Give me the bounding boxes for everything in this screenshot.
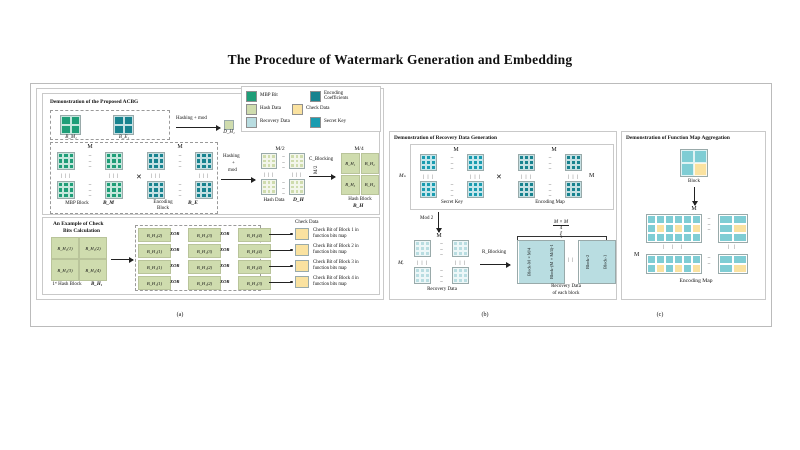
fma-map-tl xyxy=(646,214,702,243)
panel-b-title: Demonstration of Recovery Data Generatio… xyxy=(394,135,497,141)
legend-swatch-mbp-bit xyxy=(246,91,257,102)
recovery-cell-bl xyxy=(414,267,431,284)
block-label-mxm4-minus1: Block-(M×M/4)-1 xyxy=(541,241,564,283)
arrow-c-blocking xyxy=(309,176,335,177)
blocks-group-left: Block-M×M/4 Block-(M×M/4)-1 xyxy=(517,240,565,284)
recovery-hdots-top: ––– xyxy=(434,242,449,259)
mbp-cell-br xyxy=(105,181,123,199)
xor-row-1-b: B_H₁(3) xyxy=(188,228,221,242)
acbg-main-row-group: M ––– | | | | | | xyxy=(50,142,218,214)
hash-block-name-label: Hash Block xyxy=(341,197,379,203)
block-label-2: Block-2 xyxy=(579,241,597,283)
hashdata-vdots-left: | | | xyxy=(261,173,277,178)
xor-row-3-c: B_H₁(4) xyxy=(238,260,271,274)
fma-map-bl xyxy=(646,254,702,274)
secretkey-vdots-right: | | | xyxy=(467,175,484,180)
xor-row-2-b: B_H₁(3) xyxy=(188,244,221,258)
recovery-size-top: M xyxy=(414,233,464,240)
mbp-name-label: MBP Block xyxy=(51,201,103,207)
legend-item-encoding-coefficients: Encoding Coefficients xyxy=(310,91,368,102)
mbp-cell-bl xyxy=(57,181,75,199)
check-data-text-2-line1: Check Bit of Block 2 in xyxy=(313,244,359,249)
encoding-symbol: B_E xyxy=(188,200,198,206)
acbg-section-title: Demonstration of the Proposed ACBG xyxy=(50,99,138,105)
check-data-text-4: Check Bit of Block 4 in function bits ma… xyxy=(313,276,385,288)
check-data-text-3-line1: Check Bit of Block 3 in xyxy=(313,260,359,265)
arrow-r-blocking xyxy=(480,264,510,265)
secretkey-cell-bl xyxy=(420,181,437,198)
enc-cell-tr xyxy=(195,152,213,170)
block-dh1 xyxy=(224,120,234,130)
fma-block-label: Block xyxy=(674,179,714,185)
dot-out-4 xyxy=(290,281,293,284)
panel-c-caption: (c) xyxy=(580,312,740,318)
hash-block-cell-2: B_H₂ xyxy=(361,153,380,174)
enc-cell-tl xyxy=(147,152,165,170)
legend-item-secret-key: Secret Key xyxy=(310,117,350,128)
xor-label-3-2: XOR xyxy=(220,263,229,268)
hashing-label-1: Hashing xyxy=(223,154,240,160)
arrow-top-hashing xyxy=(176,127,220,128)
fma-map-br xyxy=(718,254,748,274)
arrow-example-to-xor xyxy=(111,259,133,260)
hashdata-cell-tr xyxy=(289,153,305,169)
xor-label-3-1: XOR xyxy=(170,263,179,268)
hash-block-cell-1: B_H₁ xyxy=(341,153,360,174)
panel-a-section-example: An Example of Check Bits Calculation B_H… xyxy=(42,217,380,295)
recovery-name-label: Recovery Data xyxy=(408,287,476,293)
secret-key-size-top: M xyxy=(423,147,489,154)
encoding-name-label-2: Block xyxy=(143,206,183,212)
hashdata-hdots-top: ––– xyxy=(279,155,288,172)
example-source-label: 1ˢᵗ Hash Block xyxy=(45,282,89,288)
xor-row-4-c: B_H₁(3) xyxy=(238,276,271,290)
r-blocking-label: R_Blocking xyxy=(482,250,506,256)
encmap-cell-br xyxy=(565,181,582,198)
encmap-vdots-left: | | | xyxy=(518,175,535,180)
encmap-size-top: M xyxy=(521,147,587,154)
xor-row-3-a: B_H₁(1) xyxy=(138,260,171,274)
panel-b-caption: (b) xyxy=(405,312,565,318)
line-out-4 xyxy=(269,282,291,283)
secretkey-cell-br xyxy=(467,181,484,198)
mbp-size-label: M xyxy=(65,144,115,151)
enc-vdots-right: | | | xyxy=(195,174,213,179)
hashing-label-3: mod xyxy=(228,168,237,174)
legend-swatch-secret-key xyxy=(310,117,321,128)
fma-map-name-label: Encoding Map xyxy=(660,278,732,284)
example-source-cell-2: B_H₁(2) xyxy=(79,237,107,259)
hash-block-cell-3: B_H₃ xyxy=(341,175,360,196)
panel-a-caption: (a) xyxy=(100,312,260,318)
mbp-vdots-left: | | | xyxy=(57,174,75,179)
hashdata-cell-bl xyxy=(261,179,277,195)
check-data-text-3-line2: function bits map xyxy=(313,266,347,271)
xor-row-4-a: B_H₁(1) xyxy=(138,276,171,290)
fma-hdots-top: ––– xyxy=(702,217,716,234)
hashing-mod-label-top: Hashing + mod xyxy=(176,116,207,122)
xor-row-1-c: B_H₁(4) xyxy=(238,228,271,242)
encoding-name-label-1: Encoding xyxy=(143,200,183,206)
xor-row-2-c: B_H₁(4) xyxy=(238,244,271,258)
recovery-cell-tr xyxy=(452,240,469,257)
check-data-text-4-line1: Check Bit of Block 4 in xyxy=(313,276,359,281)
example-source-cell-3: B_H₁(3) xyxy=(51,259,79,281)
example-title-line1: An Example of Check xyxy=(53,221,103,227)
recovery-cell-br xyxy=(452,267,469,284)
mbp-cell-tr xyxy=(105,152,123,170)
hashdata-vdots-right: | | | xyxy=(289,173,305,178)
example-title-line2: Bits Calculation xyxy=(63,228,100,234)
enc-hdots-top: ––– xyxy=(169,154,191,171)
multiply-symbol-b: ✕ xyxy=(496,173,502,181)
xor-row-3-b: B_H₁(2) xyxy=(188,260,221,274)
check-data-swatch-1 xyxy=(295,228,309,240)
secret-key-size-left: Mₛ xyxy=(399,173,406,180)
block-be1 xyxy=(113,115,134,135)
hashdata-hdots-bottom: ––– xyxy=(279,181,288,198)
acbg-top-row-group: B_M₁ B_E₁ xyxy=(50,110,170,140)
fma-map-size-top: M xyxy=(670,206,718,213)
check-data-text-2-line2: function bits map xyxy=(313,250,347,255)
panel-c: Demonstration of Function Map Aggregatio… xyxy=(621,131,766,300)
xor-label-4-2: XOR xyxy=(220,279,229,284)
mbp-symbol: B_M xyxy=(103,200,114,206)
encmap-cell-tr xyxy=(565,154,582,171)
c-blocking-size-label: M/2 xyxy=(314,166,320,174)
check-data-text-1-line2: function bits map xyxy=(313,234,347,239)
arrow-hashing-main xyxy=(221,179,255,180)
xor-row-2-a: B_H₁(1) xyxy=(138,244,171,258)
legend-swatch-recovery-data xyxy=(246,117,257,128)
xor-label-1-1: XOR xyxy=(170,231,179,236)
check-data-title: Check Data xyxy=(295,220,335,226)
hash-block-size-label: M/4 xyxy=(339,146,379,152)
arrow-fma-down xyxy=(694,187,695,205)
blocks-group-right: Block-2 Block-1 xyxy=(578,240,616,284)
legend-item-hash-data: Hash Data xyxy=(246,104,286,115)
block-label-mxm4: Block-M×M/4 xyxy=(518,241,541,283)
fma-vdots-right: | | xyxy=(718,245,746,250)
recovery-hdots-bottom: ––– xyxy=(434,269,449,286)
mbp-hdots-bottom: ––– xyxy=(79,183,101,200)
multiply-symbol-a: ✕ xyxy=(136,173,142,181)
hash-block-cell-4: B_H₄ xyxy=(361,175,380,196)
hashing-label-2: + xyxy=(232,161,235,167)
arrow-mod2 xyxy=(438,212,439,232)
mbp-vdots-right: | | | xyxy=(105,174,123,179)
legend-item-mbp-bit: MBP Bit xyxy=(246,91,304,102)
secretkey-hdots-top: ––– xyxy=(441,156,463,173)
block-bm1-label: B_M₁ xyxy=(55,135,87,140)
encmap-size-right: M xyxy=(589,173,594,180)
example-source-symbol: B_H₁ xyxy=(91,282,102,288)
legend-item-recovery-data: Recovery Data xyxy=(246,117,304,128)
blocks-name-line1: Recovery Data xyxy=(520,284,612,290)
enc-cell-br xyxy=(195,181,213,199)
check-data-swatch-3 xyxy=(295,260,309,272)
dot-out-1 xyxy=(290,233,293,236)
example-source-block: B_H₁(1) B_H₁(2) B_H₁(3) B_H₁(4) xyxy=(51,237,107,281)
legend-label-encoding-coefficients: Encoding Coefficients xyxy=(324,91,368,102)
check-data-text-2: Check Bit of Block 2 in function bits ma… xyxy=(313,244,385,256)
fma-vdots-left: | | | xyxy=(646,245,700,250)
recovery-vdots-right: | | | xyxy=(452,261,469,266)
fma-map-size-left: M xyxy=(634,252,639,259)
recovery-cell-tl xyxy=(414,240,431,257)
enc-cell-bl xyxy=(147,181,165,199)
encmap-vdots-right: | | | xyxy=(565,175,582,180)
xor-row-1-a: B_H₁(2) xyxy=(138,228,171,242)
panel-b-topgroup: M Mₛ ––– | | | | | | xyxy=(410,144,614,210)
block-dh1-label: D_H₁ xyxy=(217,130,241,135)
legend-item-check-data: Check Data xyxy=(292,104,350,115)
encmap-name-label: Encoding Map xyxy=(517,200,583,206)
xor-row-4-b: B_H₁(2) xyxy=(188,276,221,290)
check-data-text-4-line2: function bits map xyxy=(313,282,347,287)
hash-block-symbol: B_H xyxy=(353,203,363,209)
secretkey-cell-tr xyxy=(467,154,484,171)
check-data-swatch-2 xyxy=(295,244,309,256)
line-out-1 xyxy=(269,234,291,235)
mod2-label: Mod 2 xyxy=(420,216,433,222)
panel-b: Demonstration of Recovery Data Generatio… xyxy=(389,131,617,300)
legend-swatch-encoding-coefficients xyxy=(310,91,321,102)
check-data-text-1: Check Bit of Block 1 in function bits ma… xyxy=(313,228,385,240)
hash-block-grid: B_H₁ B_H₂ B_H₃ B_H₄ xyxy=(341,153,379,195)
xor-label-1-2: XOR xyxy=(220,231,229,236)
page-title: The Procedure of Watermark Generation an… xyxy=(0,52,800,68)
secretkey-cell-tl xyxy=(420,154,437,171)
check-data-text-1-line1: Check Bit of Block 1 in xyxy=(313,228,359,233)
secretkey-hdots-bottom: ––– xyxy=(441,183,463,200)
fma-hdots-bottom: –– xyxy=(702,256,716,267)
encoding-size-label: M xyxy=(155,144,205,151)
encmap-hdots-top: ––– xyxy=(539,156,561,173)
encmap-cell-tl xyxy=(518,154,535,171)
secret-key-name-label: Secret Key xyxy=(419,200,485,206)
legend-label-check-data: Check Data xyxy=(306,106,329,112)
hash-data-name-label: Hash Data xyxy=(253,198,295,204)
example-source-cell-1: B_H₁(1) xyxy=(51,237,79,259)
block-bm1 xyxy=(60,115,81,135)
line-out-3 xyxy=(269,266,291,267)
xor-label-2-1: XOR xyxy=(170,247,179,252)
legend-label-recovery-data: Recovery Data xyxy=(260,119,290,125)
blocks-count-numerator: M × M xyxy=(554,220,568,225)
secretkey-vdots-left: | | | xyxy=(420,175,437,180)
hashdata-cell-br xyxy=(289,179,305,195)
legend-label-mbp-bit: MBP Bit xyxy=(260,93,278,99)
c-blocking-label: C_Blocking xyxy=(309,157,333,163)
xor-label-4-1: XOR xyxy=(170,279,179,284)
line-out-2 xyxy=(269,250,291,251)
hashdata-cell-tl xyxy=(261,153,277,169)
panel-c-title: Demonstration of Function Map Aggregatio… xyxy=(626,135,730,141)
legend-swatch-check-data xyxy=(292,104,303,115)
legend-label-hash-data: Hash Data xyxy=(260,106,281,112)
block-label-1: Block-1 xyxy=(597,241,615,283)
hash-data-symbol: D_H xyxy=(293,197,304,203)
recovery-vdots-left: | | | xyxy=(414,261,431,266)
encmap-cell-bl xyxy=(518,181,535,198)
enc-hdots-bottom: ––– xyxy=(169,183,191,200)
example-source-cell-4: B_H₁(4) xyxy=(79,259,107,281)
blocks-ellipsis: | | xyxy=(565,258,577,263)
enc-vdots-left: | | | xyxy=(147,174,165,179)
hash-data-size-label: M/2 xyxy=(258,146,302,152)
recovery-size-left: Mᵣ xyxy=(398,260,404,267)
fma-map-tr xyxy=(718,214,748,243)
legend: MBP Bit Encoding Coefficients Hash Data … xyxy=(241,86,381,132)
mbp-hdots-top: ––– xyxy=(79,154,101,171)
xor-label-2-2: XOR xyxy=(220,247,229,252)
block-be1-label: B_E₁ xyxy=(108,135,140,140)
check-data-text-3: Check Bit of Block 3 in function bits ma… xyxy=(313,260,385,272)
legend-swatch-hash-data xyxy=(246,104,257,115)
figure-frame: Demonstration of the Proposed ACBG B_M₁ … xyxy=(30,83,772,327)
fma-block xyxy=(680,149,708,177)
check-data-swatch-4 xyxy=(295,276,309,288)
dot-out-3 xyxy=(290,265,293,268)
encmap-hdots-bottom: ––– xyxy=(539,183,561,200)
blocks-name-line2: of each block xyxy=(520,291,612,297)
mbp-cell-tl xyxy=(57,152,75,170)
legend-label-secret-key: Secret Key xyxy=(324,119,346,125)
dot-out-2 xyxy=(290,249,293,252)
